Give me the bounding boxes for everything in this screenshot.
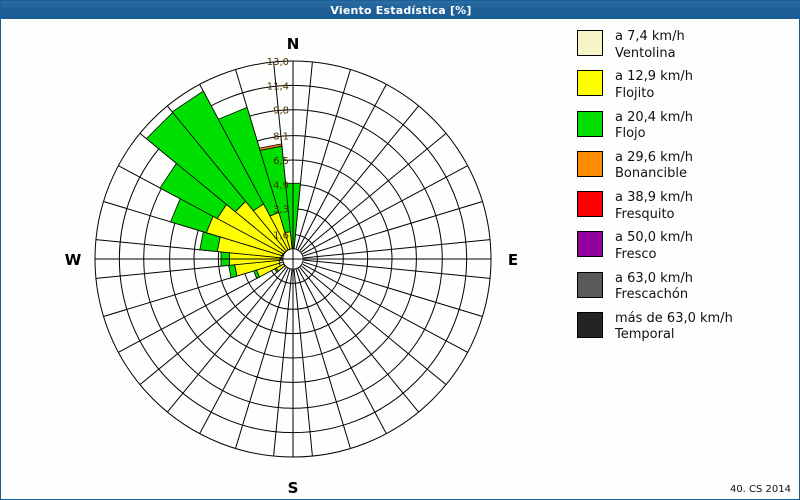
radial-tick-label: 4,9	[273, 180, 289, 191]
grid-spoke	[298, 84, 386, 249]
grid-spoke	[304, 240, 490, 258]
legend-label: a 20,4 km/h Flojo	[615, 110, 693, 143]
legend-item: más de 63,0 km/h Temporal	[577, 311, 795, 344]
legend-label-speed: a 12,9 km/h	[615, 69, 693, 86]
legend-item: a 63,0 km/h Frescachón	[577, 271, 795, 304]
legend-label-category: Fresquito	[615, 207, 693, 224]
legend-label-category: Temporal	[615, 327, 733, 344]
compass-label-north: N	[287, 35, 300, 53]
legend-label-category: Flojo	[615, 126, 693, 143]
legend-swatch	[577, 231, 603, 257]
window-title-bar: Viento Estadística [%]	[1, 1, 800, 19]
legend-item: a 38,9 km/h Fresquito	[577, 190, 795, 223]
legend-label: más de 63,0 km/h Temporal	[615, 311, 733, 344]
radial-tick-label: 11,4	[267, 81, 289, 92]
legend-label-category: Ventolina	[615, 46, 685, 63]
grid-spoke	[298, 269, 386, 434]
legend-label-speed: más de 63,0 km/h	[615, 311, 733, 328]
legend-label: a 50,0 km/h Fresco	[615, 230, 693, 263]
legend-item: a 7,4 km/h Ventolina	[577, 29, 795, 62]
legend-label: a 38,9 km/h Fresquito	[615, 190, 693, 223]
radial-tick-label: 6,5	[273, 156, 289, 167]
legend-label-category: Frescachón	[615, 287, 693, 304]
legend-item: a 29,6 km/h Bonancible	[577, 150, 795, 183]
footer-credit: 40. CS 2014	[730, 484, 791, 495]
legend-swatch	[577, 151, 603, 177]
radial-tick-label: 13,0	[267, 57, 289, 68]
compass-label-east: E	[508, 251, 518, 269]
legend-label-category: Fresco	[615, 247, 693, 264]
legend-label-category: Bonancible	[615, 166, 693, 183]
legend-item: a 20,4 km/h Flojo	[577, 110, 795, 143]
legend-swatch	[577, 191, 603, 217]
radial-tick-label: 8,1	[273, 132, 289, 143]
polar-axis-lines	[95, 61, 491, 457]
legend: a 7,4 km/h Ventolina a 12,9 km/h Flojito…	[577, 29, 795, 351]
legend-label-speed: a 29,6 km/h	[615, 150, 693, 167]
wind-rose-chart: 1,63,34,96,58,19,811,413,0 NESW	[1, 20, 571, 500]
grid-spoke	[304, 260, 490, 278]
legend-swatch	[577, 111, 603, 137]
legend-swatch	[577, 70, 603, 96]
compass-label-west: W	[65, 251, 82, 269]
legend-item: a 50,0 km/h Fresco	[577, 230, 795, 263]
grid-spoke	[274, 270, 292, 456]
radial-tick-label: 3,3	[273, 205, 289, 216]
grid-spoke	[303, 166, 468, 254]
wind-statistics-window: Viento Estadística [%] 1,63,34,96,58,19,…	[0, 0, 800, 500]
legend-label-category: Flojito	[615, 86, 693, 103]
legend-label-speed: a 50,0 km/h	[615, 230, 693, 247]
wind-rose-svg: 1,63,34,96,58,19,811,413,0 NESW	[1, 20, 571, 500]
compass-label-south: S	[288, 479, 299, 497]
legend-swatch	[577, 272, 603, 298]
legend-label-speed: a 20,4 km/h	[615, 110, 693, 127]
legend-label: a 7,4 km/h Ventolina	[615, 29, 685, 62]
grid-spoke	[294, 270, 312, 456]
legend-item: a 12,9 km/h Flojito	[577, 69, 795, 102]
legend-label-speed: a 7,4 km/h	[615, 29, 685, 46]
radial-tick-label: 1,6	[273, 231, 289, 242]
legend-label-speed: a 38,9 km/h	[615, 190, 693, 207]
radial-tick-label: 9,8	[273, 106, 289, 117]
legend-label: a 29,6 km/h Bonancible	[615, 150, 693, 183]
window-title: Viento Estadística [%]	[330, 4, 471, 17]
legend-swatch	[577, 312, 603, 338]
legend-swatch	[577, 30, 603, 56]
legend-label-speed: a 63,0 km/h	[615, 271, 693, 288]
legend-label: a 12,9 km/h Flojito	[615, 69, 693, 102]
grid-spoke	[303, 264, 468, 352]
legend-label: a 63,0 km/h Frescachón	[615, 271, 693, 304]
grid-spoke	[200, 269, 288, 434]
